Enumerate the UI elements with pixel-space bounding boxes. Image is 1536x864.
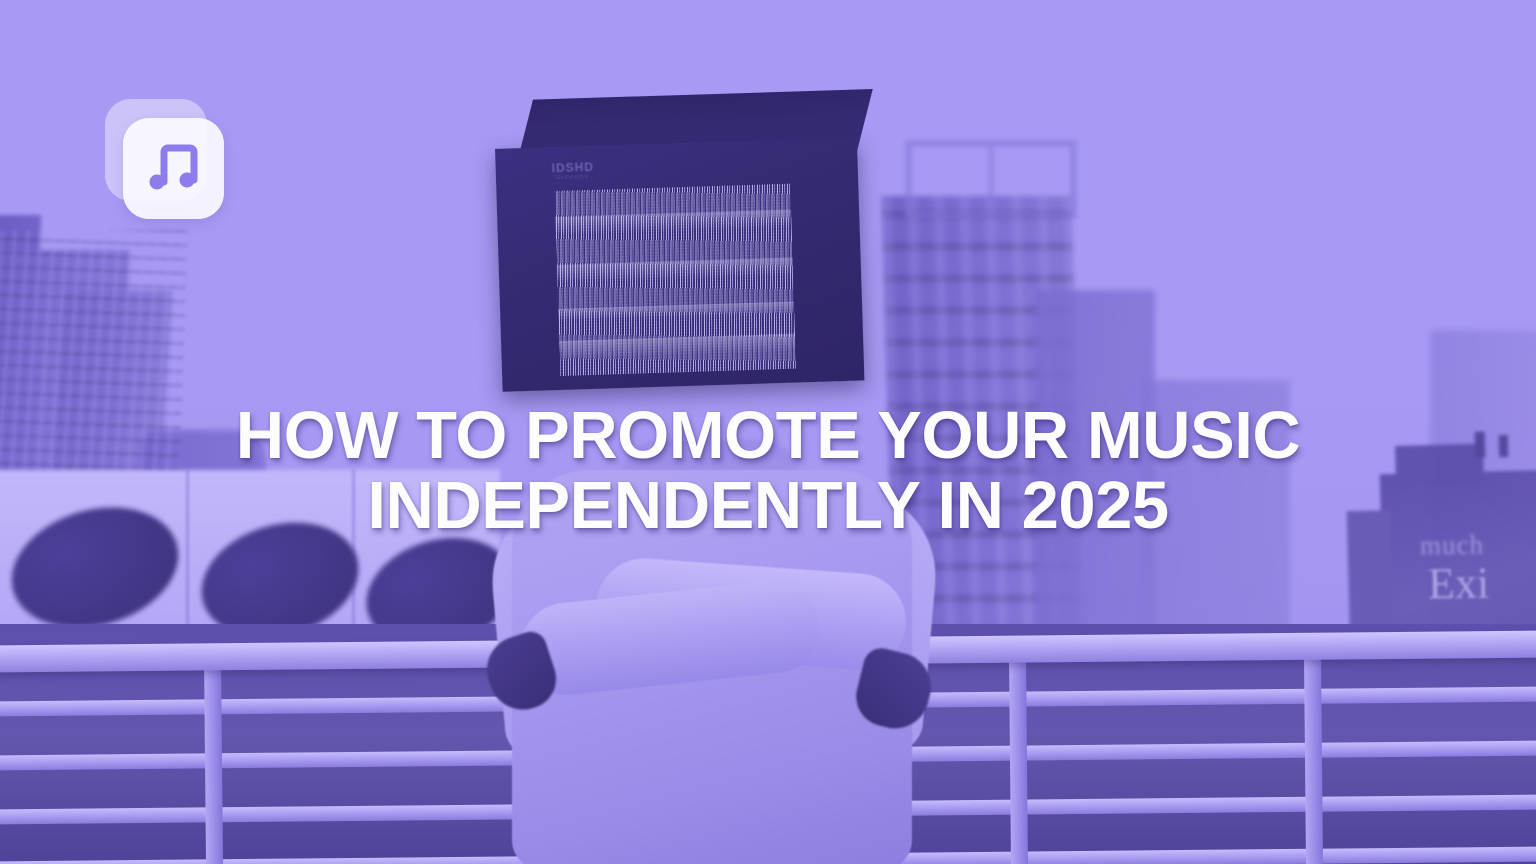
blog-cover-image: much Exi NOISE <box>0 0 1536 864</box>
title-line-2: INDEPENDENTLY IN 2025 <box>0 471 1536 541</box>
brand-logo[interactable] <box>105 99 227 221</box>
title-line-1: HOW TO PROMOTE YOUR MUSIC <box>0 401 1536 471</box>
tv-brand-label: IDSHD <box>551 160 594 175</box>
music-note-icon <box>144 138 204 198</box>
tv-screen-static <box>554 184 796 376</box>
tv-head: IDSHD TELEVISION <box>494 89 875 393</box>
logo-front-card <box>123 118 224 219</box>
tv-brand-sublabel: TELEVISION <box>554 174 589 181</box>
page-title: HOW TO PROMOTE YOUR MUSIC INDEPENDENTLY … <box>0 401 1536 541</box>
tv-bezel: IDSHD TELEVISION <box>495 138 864 392</box>
